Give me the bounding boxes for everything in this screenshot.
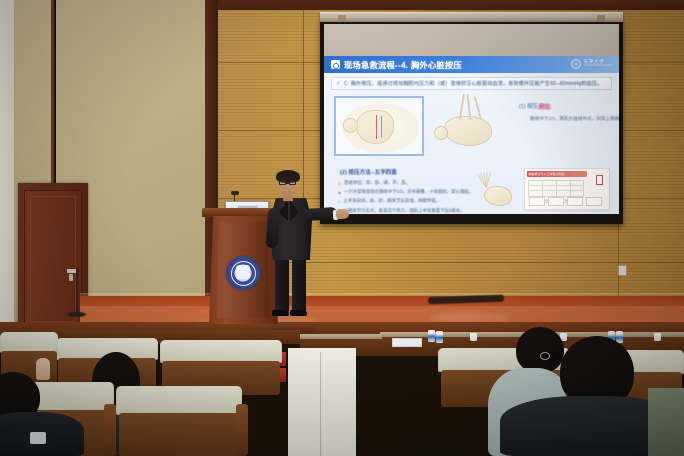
camera-icon	[331, 60, 340, 69]
glasses-lens	[279, 181, 286, 185]
glasses-icon	[279, 181, 297, 185]
sternum-marker-line	[376, 115, 377, 139]
screen-blank-area	[324, 24, 619, 58]
audience-member-head	[516, 327, 564, 373]
riser-seam	[320, 352, 321, 456]
chart-highlight-box	[596, 175, 603, 185]
university-name-en: TIANJIN UNIVERSITY	[583, 65, 613, 68]
lecture-hall-photo: 现场急救流程--4. 胸外心脏按压 天津大学 TIANJIN UNIVERSIT…	[0, 0, 684, 456]
midline-marker-line	[381, 116, 382, 138]
audience-member-shoulders	[648, 388, 684, 456]
leg	[275, 256, 289, 312]
water-bottle	[428, 330, 435, 342]
audience-seat-foreground	[116, 386, 242, 456]
chart-gridline	[556, 180, 557, 197]
projection-screen: 现场急救流程--4. 胸外心脏按压 天津大学 TIANJIN UNIVERSIT…	[324, 12, 619, 224]
desk-surface	[300, 334, 382, 339]
presentation-slide: 现场急救流程--4. 胸外心脏按压 天津大学 TIANJIN UNIVERSIT…	[324, 56, 619, 214]
bullet-text: 以髋关节为支点，垂直向下用力，借助上半身重量下压5厘米。	[343, 208, 464, 214]
bullet-text: 一只手掌根部放在胸骨中下1/3，另手重叠，十指相扣，掌心翘起。	[344, 189, 473, 195]
raised-hand	[36, 358, 50, 380]
head-shape	[343, 118, 358, 133]
seat-headrest	[0, 332, 58, 353]
section-1-heading: (1) 按压部位	[519, 102, 551, 110]
section-1-heading-prefix: (1) 按压	[519, 104, 538, 110]
chart-gridline	[570, 180, 571, 197]
university-name: 天津大学 TIANJIN UNIVERSITY	[583, 59, 613, 67]
roller-cap	[338, 15, 346, 22]
chart-gridline	[583, 180, 584, 197]
shoe	[272, 310, 289, 316]
cpr-force-vector-illustration	[474, 168, 518, 212]
presenter-hand	[336, 209, 349, 219]
cpr-hand-position-illustration	[334, 96, 424, 156]
presenter	[265, 170, 347, 330]
chart-gridline	[528, 180, 529, 197]
hair-tie-icon	[540, 352, 550, 360]
paper-cup	[654, 333, 661, 341]
roller-cap	[597, 15, 605, 22]
door-lock-icon	[69, 274, 73, 281]
chart-gridline	[542, 180, 543, 197]
wall-power-outlet	[618, 265, 627, 276]
chart-thumbnail	[548, 197, 564, 206]
seat-armrest	[104, 404, 116, 456]
seat-headrest	[116, 386, 242, 415]
section-1-body: 胸骨中下1/3，两乳头连线中点，剑突上两横指。	[530, 116, 619, 122]
chart-thumbnail-row	[529, 197, 602, 206]
university-logo: 天津大学 TIANJIN UNIVERSITY	[571, 59, 613, 69]
stage-step-riser	[288, 348, 356, 456]
collar-detail	[30, 432, 46, 444]
floor-microphone-stand	[76, 268, 78, 316]
slide-title: 现场急救流程--4. 胸外心脏按压	[344, 59, 462, 71]
slide-lead-paragraph: ✓ C 胸外按压，是通过增加胸腔内压力和（或）直接挤压心脏驱动血流，有效循环压能…	[331, 77, 612, 90]
chart-thumbnail	[529, 197, 545, 206]
paper-cup	[470, 333, 477, 341]
torso-shape	[356, 110, 394, 144]
seat-backrest	[119, 413, 240, 456]
floor-microphone-base	[68, 312, 86, 317]
section-2-heading: (2) 按压方法--五字四直	[340, 168, 397, 176]
shoe	[290, 310, 307, 316]
bullet-text: 上半身前倾，肩、肘、腕关节呈直线，两臂伸直。	[343, 198, 440, 204]
bullet-text: 患者体位：仰、卧、硬、平、直。	[344, 180, 410, 186]
leg	[292, 256, 306, 312]
patient-torso-shape	[444, 116, 492, 146]
chart-thumbnail	[586, 197, 602, 206]
door-inset-moulding	[30, 196, 76, 322]
check-icon: ✓	[336, 80, 341, 87]
handout-paper	[392, 338, 422, 347]
reference-chart-card: 胸部按压与人工呼吸比例表 按压深度与频率参考标准	[524, 168, 610, 210]
slide-title-bar: 现场急救流程--4. 胸外心脏按压 天津大学 TIANJIN UNIVERSIT…	[324, 56, 619, 73]
chart-grid	[528, 180, 584, 197]
seat-headrest	[160, 340, 282, 363]
slide-lead-label: C	[344, 81, 348, 87]
chart-thumbnail	[567, 197, 583, 206]
university-seal-emblem	[226, 256, 260, 290]
patient-head-shape	[434, 126, 448, 140]
section-1-heading-highlight: 部位	[538, 104, 551, 110]
slide-lead-text: 胸外按压，是通过增加胸腔内压力和（或）直接挤压心脏驱动血流，有效循环压能产生60…	[351, 80, 602, 87]
glasses-lens	[289, 181, 296, 185]
presenter-legs	[274, 256, 308, 312]
chart-header-text: 胸部按压与人工呼吸比例表	[529, 172, 565, 176]
cpr-posture-illustration	[430, 94, 508, 156]
university-seal-icon	[571, 59, 581, 69]
seal-center-mark	[236, 265, 250, 279]
seat-armrest	[236, 404, 248, 456]
patient-body-shape	[484, 186, 512, 206]
wall-left-edge	[0, 0, 14, 352]
water-bottle	[436, 331, 443, 343]
